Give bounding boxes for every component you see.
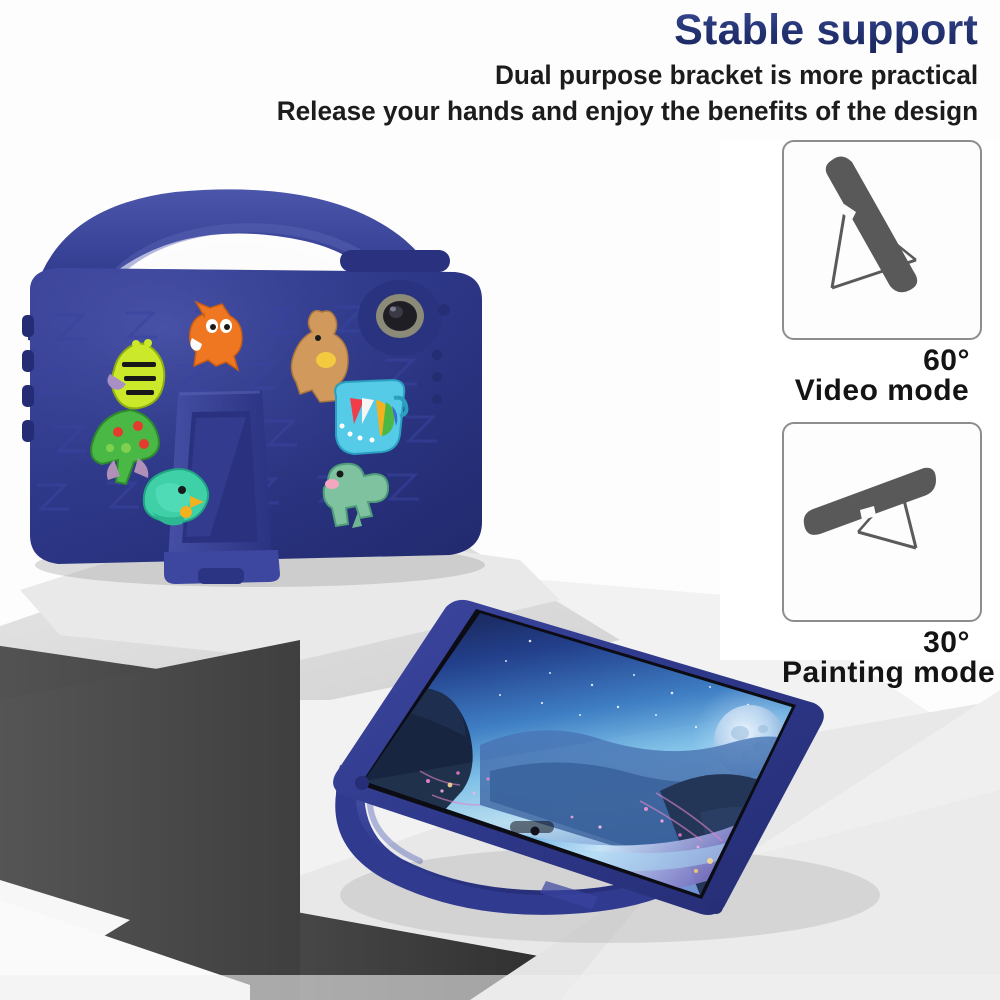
painting-mode-label: Painting mode: [782, 656, 982, 690]
painting-mode-angle: 30°: [782, 626, 982, 660]
page-title: Stable support: [674, 6, 978, 55]
subtitle-line-2: Release your hands and enjoy the benefit…: [277, 96, 978, 127]
tablet-case-back-view: [0, 150, 520, 610]
subtitle-line-1: Dual purpose bracket is more practical: [495, 60, 978, 91]
mode-card-painting: 30° Painting mode: [782, 422, 982, 690]
rear-camera-cutout: [358, 280, 442, 356]
video-mode-angle: 60°: [782, 344, 982, 378]
video-mode-illustration: [782, 140, 982, 340]
case-port-hole-2: [709, 900, 723, 914]
tablet-reclined-kickstand-icon: [784, 424, 976, 616]
product-feature-image: Stable support Dual purpose bracket is m…: [0, 0, 1000, 1000]
case-port-hole: [355, 776, 369, 790]
rainbow-bag-sticker: [335, 380, 406, 454]
mode-cards: 60° Video mode 30° Painting mode: [782, 140, 982, 690]
tablet-upright-kickstand-icon: [784, 142, 976, 334]
video-mode-label: Video mode: [782, 374, 982, 408]
mode-card-video: 60° Video mode: [782, 140, 982, 408]
painting-mode-illustration: [782, 422, 982, 622]
header: Stable support Dual purpose bracket is m…: [0, 0, 1000, 140]
